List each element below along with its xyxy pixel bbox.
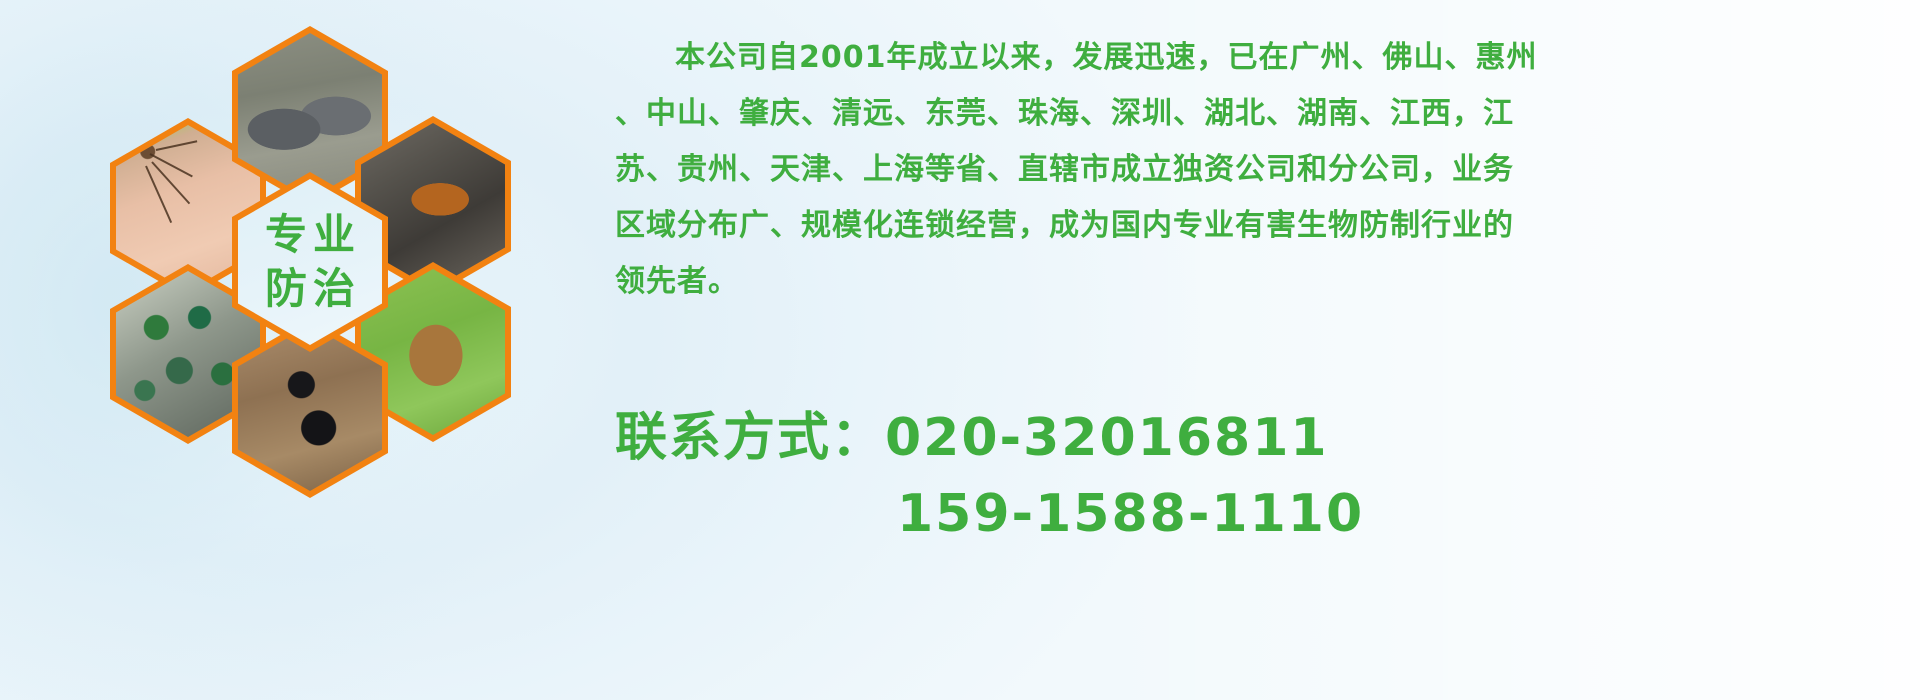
pest-control-banner: 专业 防治 本公司自2001年成立以来，发展迅速，已在广州、佛山、惠州 、中山、… <box>0 0 1920 700</box>
intro-line-3: 苏、贵州、天津、上海等省、直辖市成立独资公司和分公司，业务 <box>615 142 1915 198</box>
hex-photo-cluster: 专业 防治 <box>80 8 600 568</box>
company-intro-paragraph: 本公司自2001年成立以来，发展迅速，已在广州、佛山、惠州 、中山、肇庆、清远、… <box>615 30 1915 310</box>
contact-phone-landline[interactable]: 联系方式：020-32016811 <box>615 400 1364 476</box>
intro-line-2: 、中山、肇庆、清远、东莞、珠海、深圳、湖北、湖南、江西，江 <box>615 86 1915 142</box>
contact-block: 联系方式：020-32016811 159-1588-1110 <box>615 400 1364 552</box>
intro-line-4: 区域分布广、规模化连锁经营，成为国内专业有害生物防制行业的 <box>615 198 1915 254</box>
contact-phone-mobile[interactable]: 159-1588-1110 <box>615 476 1364 552</box>
logo-hexagon-inner: 专业 防治 <box>238 179 382 345</box>
logo-text-line2: 防治 <box>259 262 361 316</box>
intro-line-5: 领先者。 <box>615 254 1915 310</box>
intro-line-1: 本公司自2001年成立以来，发展迅速，已在广州、佛山、惠州 <box>615 30 1915 86</box>
logo-text-line1: 专业 <box>259 208 361 262</box>
